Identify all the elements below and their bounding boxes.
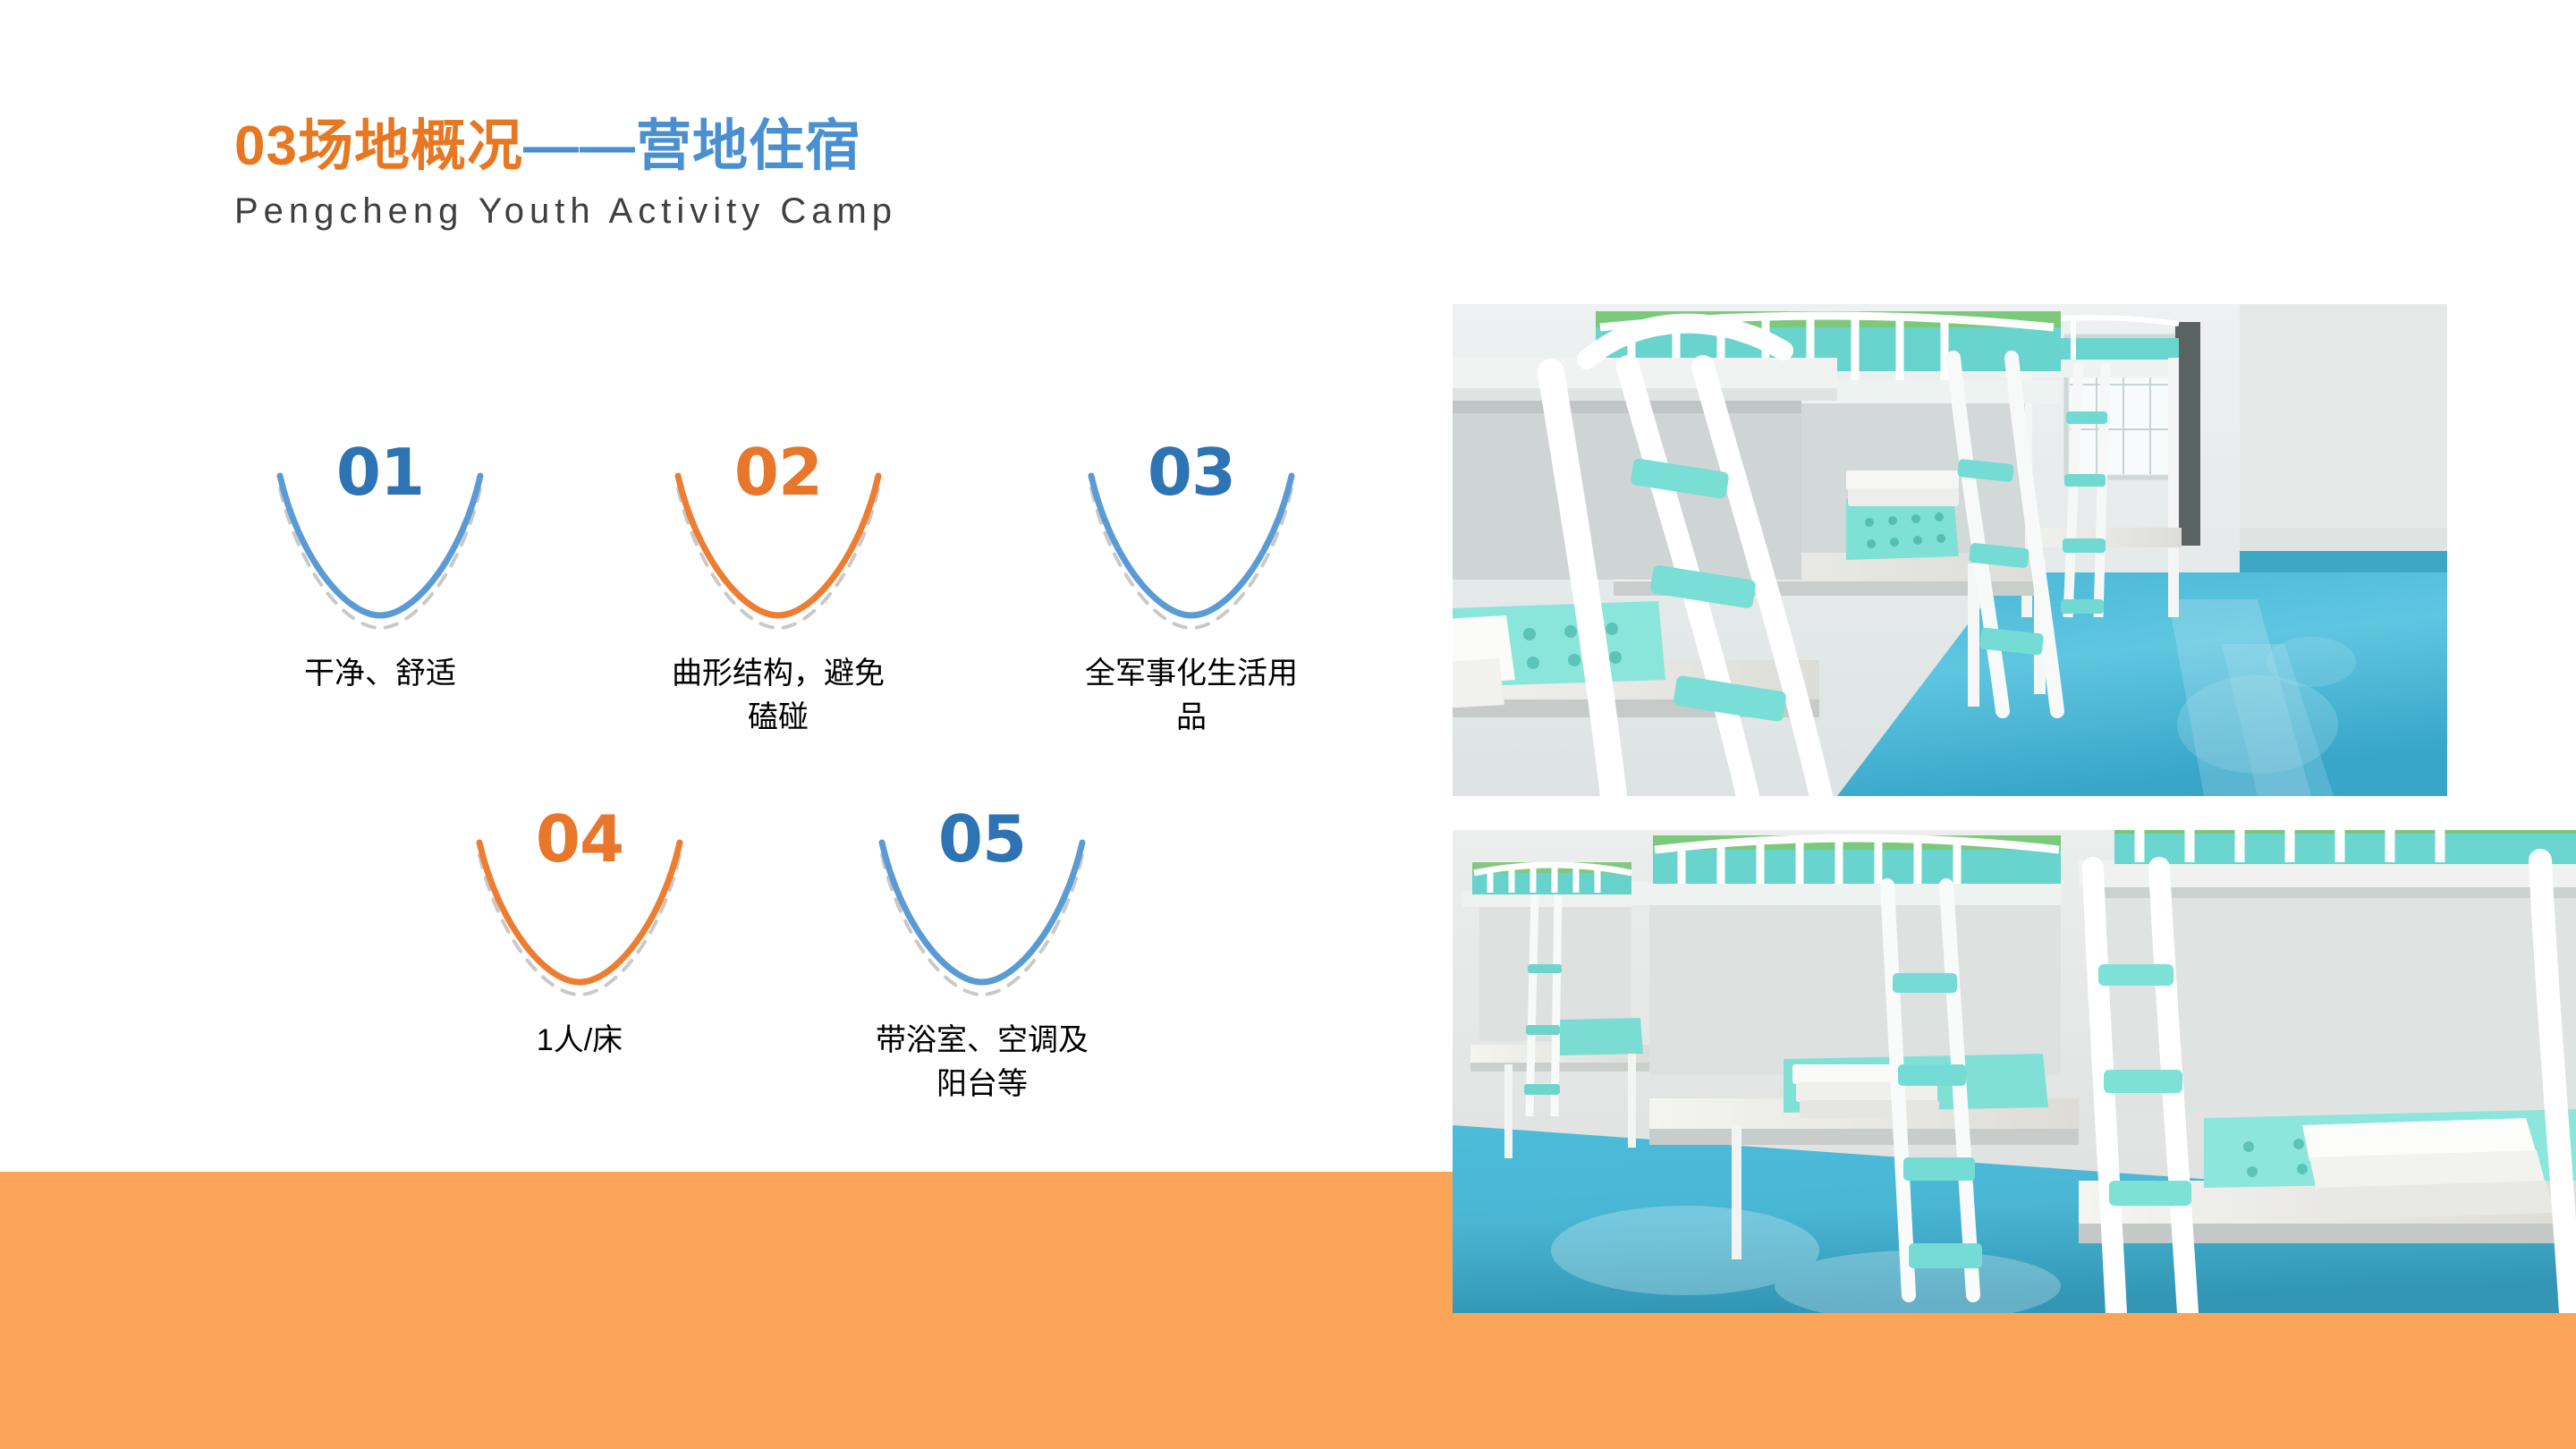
feature-caption-03: 全军事化生活用 品 xyxy=(1004,652,1379,741)
feature-caption-01: 干净、舒适 xyxy=(192,652,568,696)
badge-03: 03 xyxy=(1057,447,1326,631)
feature-item-05[interactable]: 05 带浴室、空调及 阳台等 xyxy=(794,814,1170,1107)
feature-caption-02: 曲形结构，避免 磕碰 xyxy=(590,652,966,741)
badge-number-03: 03 xyxy=(1057,435,1326,510)
feature-item-01[interactable]: 01 干净、舒适 xyxy=(192,447,568,696)
feature-item-03[interactable]: 03 全军事化生活用 品 xyxy=(1004,447,1379,741)
feature-caption-04: 1人/床 xyxy=(392,1019,767,1063)
bunk-beds-bedding-photo xyxy=(1453,830,2576,1313)
badge-number-02: 02 xyxy=(644,435,912,510)
badge-number-04: 04 xyxy=(445,801,714,877)
feature-caption-05: 带浴室、空调及 阳台等 xyxy=(794,1019,1170,1107)
feature-item-02[interactable]: 02 曲形结构，避免 磕碰 xyxy=(590,447,966,741)
badge-02: 02 xyxy=(644,447,912,631)
badge-05: 05 xyxy=(848,814,1116,997)
feature-list: 01 干净、舒适 02 曲形结构，避免 磕碰 03 全军事化生活用 品 xyxy=(0,0,1431,1449)
badge-number-05: 05 xyxy=(848,801,1116,877)
dormitory-corridor-photo xyxy=(1453,304,2447,796)
badge-04: 04 xyxy=(445,814,714,997)
feature-item-04[interactable]: 04 1人/床 xyxy=(392,814,767,1063)
badge-number-01: 01 xyxy=(246,435,514,510)
badge-01: 01 xyxy=(246,447,514,631)
